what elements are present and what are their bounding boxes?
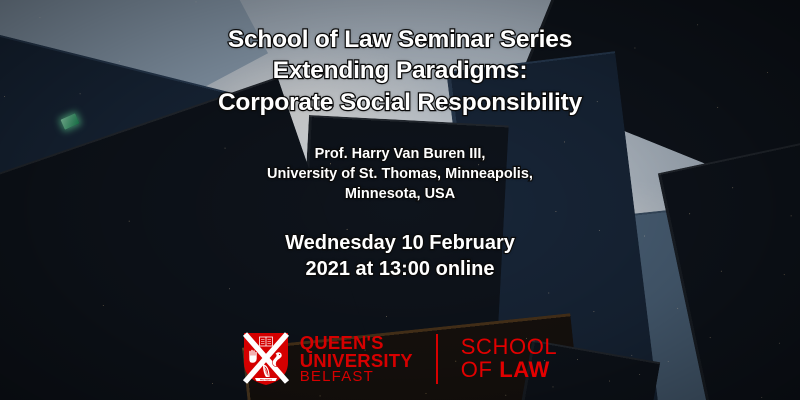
school-word-of: OF (461, 357, 499, 382)
seminar-poster: School of Law Seminar Series Extending P… (0, 0, 800, 400)
title-line-1: School of Law Seminar Series (70, 24, 730, 55)
speaker-name: Prof. Harry Van Buren III, (120, 144, 680, 164)
speaker-details: Prof. Harry Van Buren III, University of… (120, 144, 680, 204)
queens-university-belfast-wordmark: QUEEN'S UNIVERSITY BELFAST (300, 334, 413, 384)
title-line-3: Corporate Social Responsibility (70, 87, 730, 118)
school-line-of-law: OF LAW (461, 359, 558, 382)
page-title: School of Law Seminar Series Extending P… (70, 24, 730, 118)
qub-line-belfast: BELFAST (300, 370, 413, 384)
speaker-location: Minnesota, USA (120, 184, 680, 204)
logo-lockup: PRO TANTO QUEEN'S UNIVERSITY BELFAST SCH… (0, 332, 800, 386)
event-time: 2021 at 13:00 online (120, 256, 680, 282)
title-line-2: Extending Paradigms: (70, 55, 730, 86)
event-date: Wednesday 10 February (120, 230, 680, 256)
school-line-school: SCHOOL (461, 336, 558, 359)
school-word-law: LAW (499, 357, 550, 382)
queens-university-belfast-crest-icon: PRO TANTO (243, 332, 289, 386)
speaker-affiliation: University of St. Thomas, Minneapolis, (120, 164, 680, 184)
logo-divider (436, 334, 438, 384)
school-of-law-wordmark: SCHOOL OF LAW (461, 336, 558, 382)
event-datetime: Wednesday 10 February 2021 at 13:00 onli… (120, 230, 680, 282)
qub-line-university: UNIVERSITY (300, 352, 413, 370)
